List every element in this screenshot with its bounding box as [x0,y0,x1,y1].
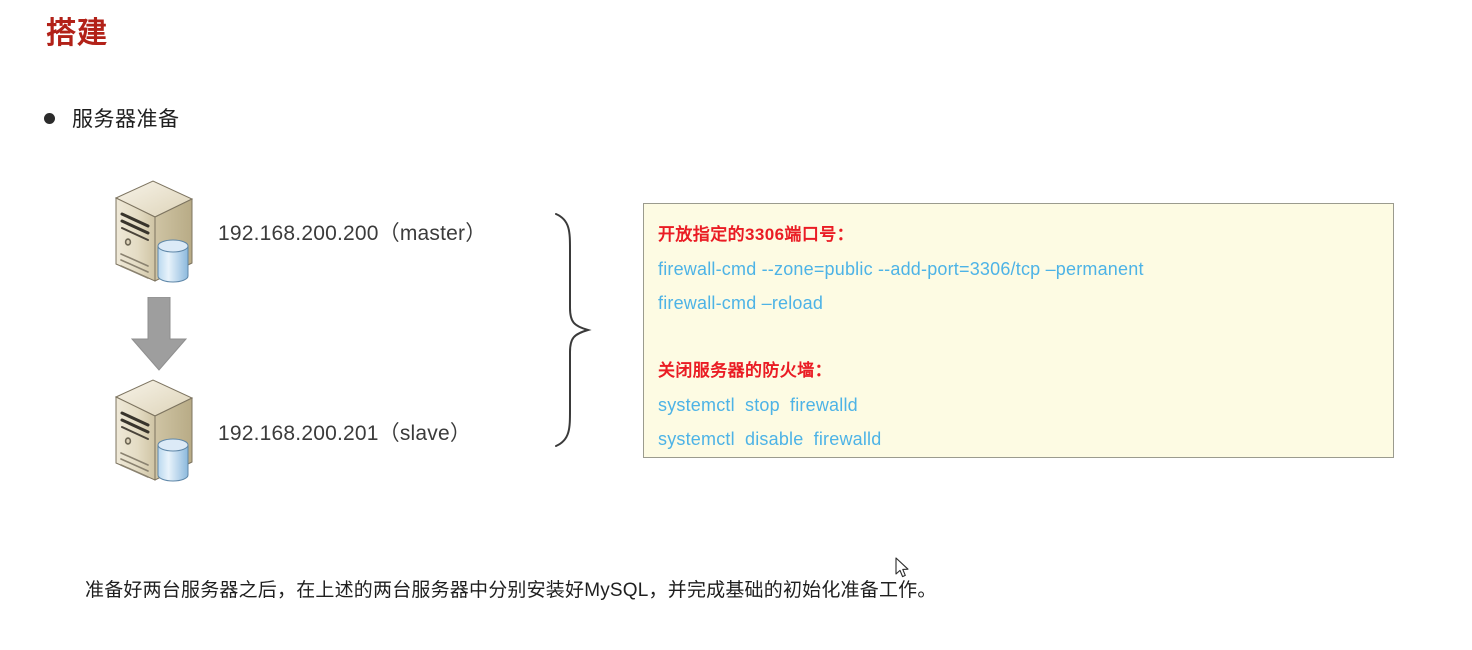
command-line: firewall-cmd –reload [658,286,1393,320]
command-line: systemctl disable firewalld [658,422,1393,456]
command-line: firewall-cmd --zone=public --add-port=33… [658,252,1393,286]
bullet-heading-label: 服务器准备 [72,103,180,133]
bullet-heading-row: 服务器准备 [44,103,180,133]
server-tower-database-icon-master [106,176,202,288]
command-block-heading: 关闭服务器的防火墙： [658,354,1393,388]
down-arrow-icon [128,297,190,371]
page-title: 搭建 [46,14,108,53]
right-curly-brace-icon [548,210,604,450]
command-box: 开放指定的3306端口号： firewall-cmd --zone=public… [643,203,1394,458]
command-block-heading: 开放指定的3306端口号： [658,218,1393,252]
command-block-firewall: 关闭服务器的防火墙： systemctl stop firewalld syst… [658,354,1393,456]
footer-paragraph: 准备好两台服务器之后，在上述的两台服务器中分别安装好MySQL，并完成基础的初始… [85,575,937,602]
ip-label-master: 192.168.200.200（master） [218,217,486,247]
server-tower-database-icon-slave [106,375,202,487]
command-line: systemctl stop firewalld [658,388,1393,422]
command-block-spacer [658,320,1393,354]
command-block-port: 开放指定的3306端口号： firewall-cmd --zone=public… [658,218,1393,320]
bullet-dot-icon [44,113,55,124]
ip-label-slave: 192.168.200.201（slave） [218,417,471,447]
